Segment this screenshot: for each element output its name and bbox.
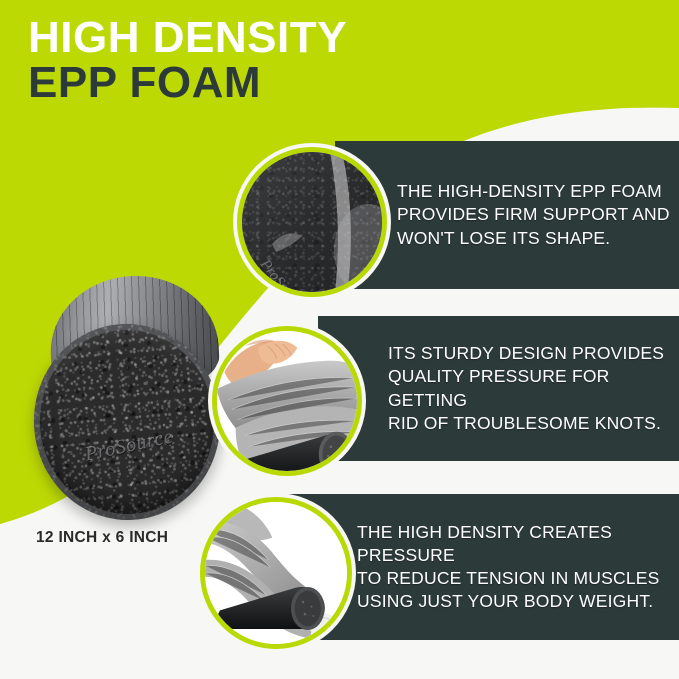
feature-panel-2: ITS STURDY DESIGN PROVIDES QUALITY PRESS…: [318, 316, 679, 461]
product-size-label: 12 INCH x 6 INCH: [36, 529, 168, 547]
product-image: ProSource: [24, 276, 229, 524]
page-title: HIGH DENSITY EPP FOAM: [28, 16, 347, 106]
title-line-1: HIGH DENSITY: [28, 16, 347, 61]
calf-rolling-illustration: [205, 502, 347, 644]
title-line-2: EPP FOAM: [28, 61, 347, 106]
foam-texture-photo: ProSource: [242, 152, 382, 292]
feature-image-1: ProSource: [237, 147, 387, 297]
foam-closeup-illustration: ProSource: [242, 152, 387, 297]
thigh-rolling-illustration: [217, 331, 357, 471]
feature-image-2: [212, 326, 362, 476]
feature-text-2: ITS STURDY DESIGN PROVIDES QUALITY PRESS…: [318, 342, 679, 434]
product-infographic: HIGH DENSITY EPP FOAM THE HIGH-DENSITY E…: [0, 0, 679, 679]
feature-image-3: [200, 497, 352, 649]
